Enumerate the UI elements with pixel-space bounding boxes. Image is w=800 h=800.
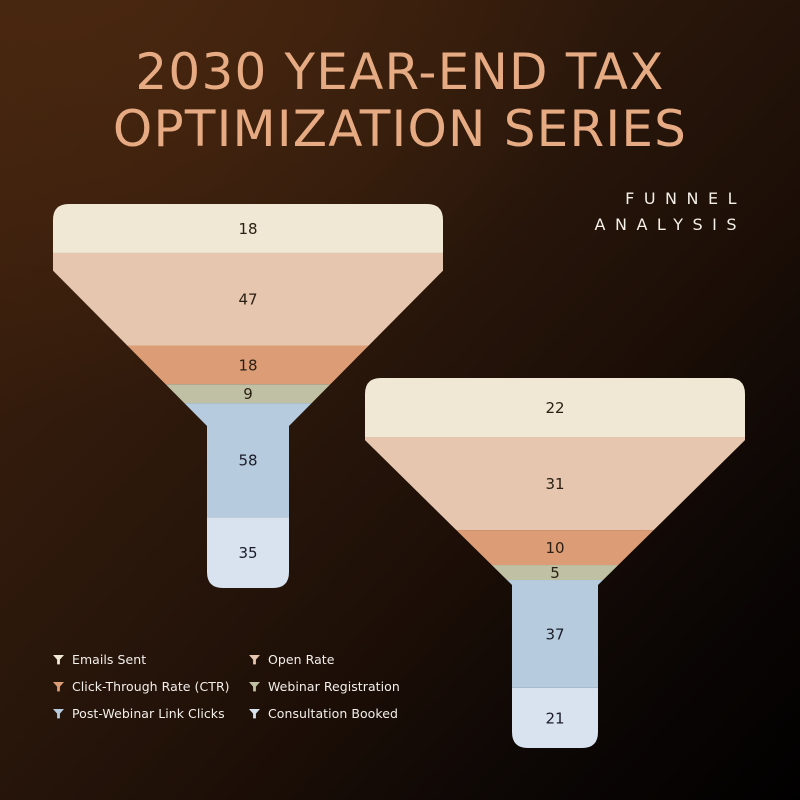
subtitle-line-1: FUNNEL <box>595 186 746 212</box>
legend-item-label: Webinar Registration <box>268 679 400 694</box>
funnel-segment-value: 5 <box>550 564 560 582</box>
funnel-segment-value: 22 <box>545 399 564 417</box>
funnel-icon <box>248 653 261 666</box>
legend-item-label: Click-Through Rate (CTR) <box>72 679 230 694</box>
funnel-segment-value: 47 <box>238 291 257 309</box>
subtitle-line-2: ANALYSIS <box>595 212 746 238</box>
legend-item[interactable]: Open Rate <box>248 646 400 673</box>
funnel-icon <box>52 707 65 720</box>
infographic-canvas: 2030 YEAR-END TAX OPTIMIZATION SERIES FU… <box>0 0 800 800</box>
funnel-segment-value: 58 <box>238 452 257 470</box>
legend-item-label: Open Rate <box>268 652 334 667</box>
legend-item-label: Post-Webinar Link Clicks <box>72 706 225 721</box>
funnel-chart-right: 22311053721 <box>355 370 755 760</box>
legend-item-label: Emails Sent <box>72 652 146 667</box>
funnel-icon <box>248 680 261 693</box>
subtitle-block: FUNNEL ANALYSIS <box>595 186 746 238</box>
funnel-segment-value: 21 <box>545 709 564 727</box>
legend-item[interactable]: Webinar Registration <box>248 673 400 700</box>
legend-item-label: Consultation Booked <box>268 706 398 721</box>
legend-item[interactable]: Emails Sent <box>52 646 236 673</box>
funnel-segment-value: 10 <box>545 539 564 557</box>
funnel-segment-value: 18 <box>238 356 257 374</box>
funnel-icon <box>248 707 261 720</box>
legend-item[interactable]: Post-Webinar Link Clicks <box>52 700 236 727</box>
legend-item[interactable]: Consultation Booked <box>248 700 400 727</box>
funnel-segment-value: 31 <box>545 475 564 493</box>
legend: Emails SentOpen RateClick-Through Rate (… <box>52 646 400 727</box>
funnel-segment-value: 18 <box>238 220 257 238</box>
page-title-line-1: 2030 YEAR-END TAX <box>36 44 764 101</box>
legend-item[interactable]: Click-Through Rate (CTR) <box>52 673 236 700</box>
funnel-icon <box>52 653 65 666</box>
funnel-segment-value: 37 <box>545 625 564 643</box>
page-title-line-2: OPTIMIZATION SERIES <box>36 101 764 158</box>
title-block: 2030 YEAR-END TAX OPTIMIZATION SERIES <box>0 44 800 158</box>
funnel-icon <box>52 680 65 693</box>
funnel-segment-value: 35 <box>238 544 257 562</box>
funnel-segment-value: 9 <box>243 385 253 403</box>
